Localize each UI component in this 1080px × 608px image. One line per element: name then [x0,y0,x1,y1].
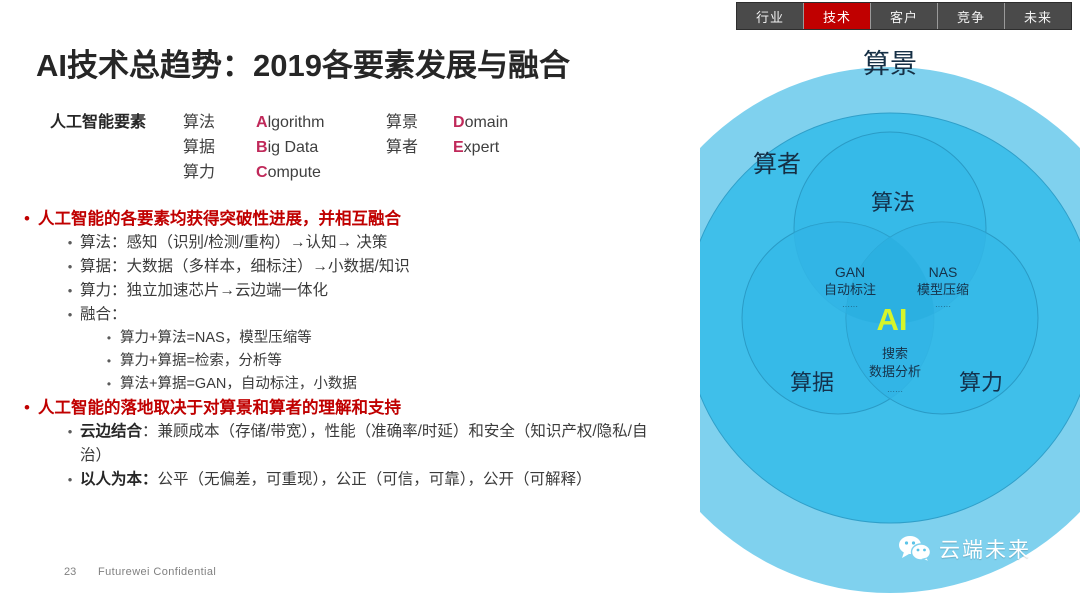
bullet-level2-text: ：兼顾成本（存储/带宽），性能（准确率/时延）和安全（知识产权/隐私/自治） [80,423,648,464]
bullet-level2-algorithm: • 算法：感知（识别/检测/重构）→认知→ 决策 [60,231,664,255]
bullet-level2-bold: 以人为本： [80,471,158,488]
venn-label-compute: 算力 [959,370,1003,395]
factor-cn-algorithm: 算法 [183,108,256,132]
tab-industry[interactable]: 行业 [737,3,804,29]
venn-inter-nas-dots: ······ [935,302,951,311]
venn-label-scenario: 算景 [863,49,917,79]
tab-customer[interactable]: 客户 [871,3,938,29]
bullet-dot-icon: • [60,231,80,255]
bullet-level2-text: 算法：感知（识别/检测/重构）→认知→ 决策 [80,231,387,255]
bullet-dot-icon: • [24,208,38,229]
bullet-dot-icon: • [60,468,80,492]
wechat-name: 云端未来 [939,534,1031,564]
factor-en-bigdata: Big Data [256,139,386,157]
bullet-level3-text: 算力+算法=NAS，模型压缩等 [120,327,312,350]
venn-inter-gan-line2: 自动标注 [824,282,876,297]
bullet-level2-cloud-edge: • 云边结合：兼顾成本（存储/带宽），性能（准确率/时延）和安全（知识产权/隐私… [60,420,664,468]
bullet-level3-search: • 算力+算据=检索，分析等 [98,350,664,373]
bullet-dot-icon: • [24,397,38,418]
bullet-level1-text: 人工智能的落地取决于对算景和算者的理解和支持 [38,397,401,419]
wechat-icon [898,535,932,563]
venn-center-ai: AI [877,302,908,337]
factor-en-algorithm: Algorithm [256,114,386,132]
bullet-level1-deployment: • 人工智能的落地取决于对算景和算者的理解和支持 [24,397,664,419]
factor-row: 算据 Big Data 算者 Expert [50,133,508,158]
bullet-level2-text: 融合： [80,303,127,327]
bullet-level2-text: 算据：大数据（多样本，细标注）→小数据/知识 [80,255,410,279]
section-tabs[interactable]: 行业 技术 客户 竞争 未来 [737,3,1071,29]
factor-row: 人工智能要素 算法 Algorithm 算景 Domain [50,108,508,133]
bullet-level2-fusion: • 融合： [60,303,664,327]
bullet-level2-data: • 算据：大数据（多样本，细标注）→小数据/知识 [60,255,664,279]
bullet-dot-icon: • [98,327,120,350]
bullet-dot-icon: • [98,373,120,396]
bullet-level3-text: 算法+算据=GAN，自动标注，小数据 [120,373,357,396]
venn-inter-gan-dots: ······ [842,302,858,311]
confidentiality-notice: Futurewei Confidential [98,566,216,578]
factor-cn-expert: 算者 [386,133,453,157]
factor-cn-domain: 算景 [386,108,453,132]
factor-row: 算力 Compute [50,158,508,183]
factor-en-domain: Domain [453,114,508,132]
venn-label-expert: 算者 [753,151,801,178]
bullet-level3-gan: • 算法+算据=GAN，自动标注，小数据 [98,373,664,396]
bullet-level2-compute: • 算力：独立加速芯片→云边端一体化 [60,279,664,303]
page-title: AI技术总趋势：2019各要素发展与融合 [36,40,570,85]
bullet-level1-text: 人工智能的各要素均获得突破性进展，并相互融合 [38,208,401,230]
venn-inter-nas-line2: 模型压缩 [917,282,969,297]
bullet-level3-nas: • 算力+算法=NAS，模型压缩等 [98,327,664,350]
venn-inter-search-dots: ······ [887,387,903,396]
bullet-dot-icon: • [98,350,120,373]
bullet-level3-text: 算力+算据=检索，分析等 [120,350,282,373]
body-bullets: • 人工智能的各要素均获得突破性进展，并相互融合 • 算法：感知（识别/检测/重… [24,208,664,492]
bullet-dot-icon: • [60,420,80,444]
page-number: 23 [64,566,76,578]
venn-inter-search-line1: 搜索 [882,346,908,361]
bullet-level2-human-centric: • 以人为本：公平（无偏差，可重现），公正（可信，可靠），公开（可解释） [60,468,664,492]
venn-inter-nas-line1: NAS [929,264,958,280]
bullet-dot-icon: • [60,279,80,303]
venn-inter-gan-line1: GAN [835,264,865,280]
bullet-level2-text: 公平（无偏差，可重现），公正（可信，可靠），公开（可解释） [158,471,592,488]
factor-cn-bigdata: 算据 [183,133,256,157]
factor-cn-compute: 算力 [183,158,256,182]
factors-lead-label: 人工智能要素 [50,108,183,132]
venn-inter-search-line2: 数据分析 [869,364,921,379]
tab-future[interactable]: 未来 [1005,3,1071,29]
tab-technology[interactable]: 技术 [804,3,871,29]
bullet-level1-breakthrough: • 人工智能的各要素均获得突破性进展，并相互融合 [24,208,664,230]
venn-diagram: 算景 算者 算法 算据 算力 GAN 自动标注 ······ NAS 模型压缩 … [700,0,1080,608]
venn-label-data: 算据 [790,370,834,395]
tab-competition[interactable]: 竞争 [938,3,1005,29]
wechat-badge: 云端未来 [898,534,1031,564]
factor-en-compute: Compute [256,164,386,182]
venn-label-algorithm: 算法 [871,190,915,215]
factor-en-expert: Expert [453,139,499,157]
bullet-level2-text: 算力：独立加速芯片→云边端一体化 [80,279,328,303]
bullet-level2-bold: 云边结合 [80,423,142,440]
bullet-dot-icon: • [60,255,80,279]
ai-factors-table: 人工智能要素 算法 Algorithm 算景 Domain 算据 Big Dat… [50,108,508,183]
bullet-dot-icon: • [60,303,80,327]
